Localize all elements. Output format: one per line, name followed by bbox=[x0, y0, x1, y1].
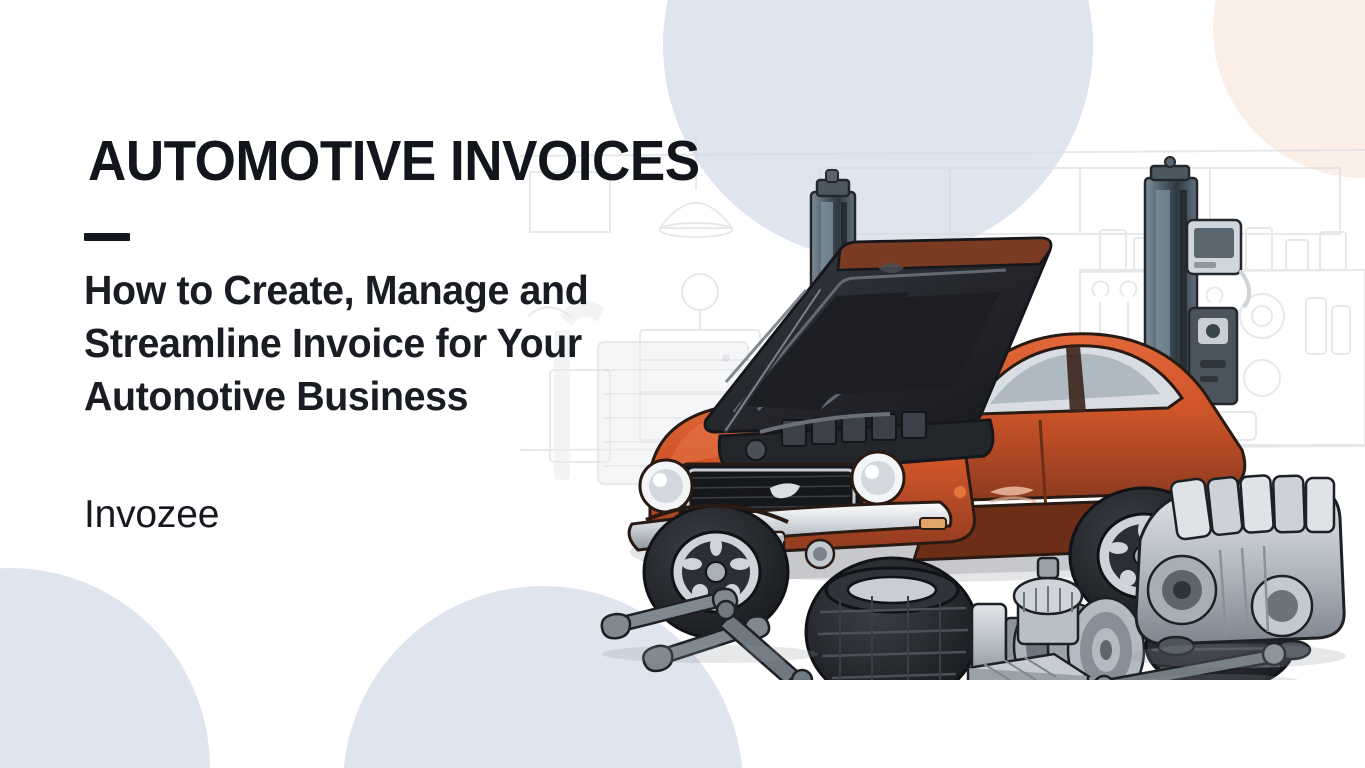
page-subtitle: How to Create, Manage and Streamline Inv… bbox=[84, 264, 718, 423]
title-divider-dash bbox=[84, 233, 130, 241]
page-title: AUTOMOTIVE INVOICES bbox=[88, 131, 700, 191]
text-content-block: AUTOMOTIVE INVOICES How to Create, Manag… bbox=[0, 0, 740, 768]
brand-name: Invozee bbox=[84, 492, 219, 538]
lift-control-box-upper bbox=[1187, 220, 1241, 274]
engine-block bbox=[1136, 475, 1344, 659]
banner-root: AUTOMOTIVE INVOICES How to Create, Manag… bbox=[0, 0, 1365, 768]
